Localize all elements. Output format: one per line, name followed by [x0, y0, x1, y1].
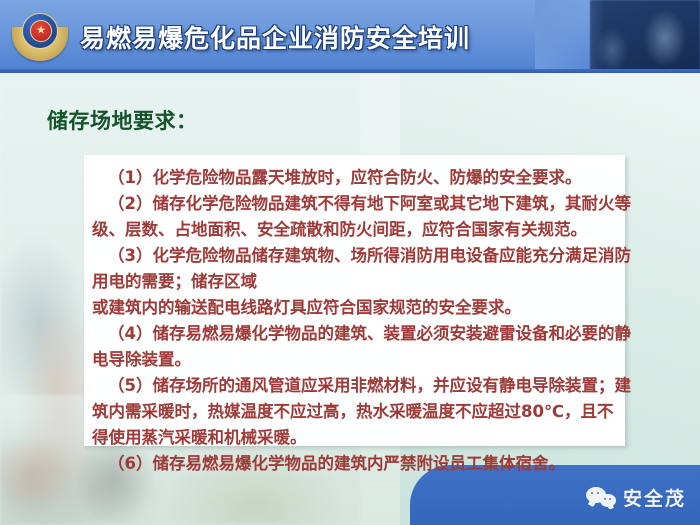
watermark: 安全茂: [586, 484, 686, 511]
slide-heading: 储存场地要求：: [47, 105, 198, 135]
badge-disc: ★: [22, 13, 58, 49]
content-line: 筑内需采暖时，热媒温度不应过高，热水采暖温度不应超过80℃，且不: [92, 399, 617, 425]
wechat-bubble-small: [600, 494, 616, 507]
content-line: 得使用蒸汽采暖和机械采暖。: [92, 425, 617, 451]
content-box: （1）化学危险物品露天堆放时，应符合防火、防爆的安全要求。（2）储存化学危险物品…: [84, 155, 625, 446]
watermark-label: 安全茂: [623, 484, 686, 511]
content-line: （5）储存场所的通风管道应采用非燃材料，并应设有静电导除装置；建: [92, 373, 617, 399]
content-line: （4）储存易燃易爆化学物品的建筑、装置必须安装避雷设备和必要的静: [92, 321, 617, 347]
wechat-dot: [604, 498, 606, 500]
content-line: 或建筑内的输送配电线路灯具应符合国家规范的安全要求。: [92, 295, 617, 321]
content-line: （6）储存易燃易爆化学物品的建筑内严禁附设员工集体宿舍。: [92, 451, 617, 477]
content-line: （1）化学危险物品露天堆放时，应符合防火、防爆的安全要求。: [92, 165, 617, 191]
badge-star-icon: ★: [36, 24, 46, 35]
content-line: 级、层数、占地面积、安全疏散和防火间距，应符合国家有关规范。: [92, 217, 617, 243]
china-police-badge-icon: ★: [12, 11, 68, 63]
content-line: （2）储存化学危险物品建筑不得有地下阿室或其它地下建筑，其耐火等: [92, 191, 617, 217]
badge-inner-emblem: ★: [30, 20, 52, 42]
content-line: （3）化学危险物品储存建筑物、场所得消防用电设备应能充分满足消防: [92, 243, 617, 269]
presentation-slide: ★ 易燃易爆危化品企业消防安全培训 储存场地要求： （1）化学危险物品露天堆放时…: [0, 0, 700, 525]
wechat-icon: [586, 487, 616, 509]
content-lines: （1）化学危险物品露天堆放时，应符合防火、防爆的安全要求。（2）储存化学危险物品…: [92, 165, 617, 477]
header-title: 易燃易爆危化品企业消防安全培训: [80, 19, 470, 55]
header-underline: [0, 69, 700, 73]
header-firefighting-photo: [590, 0, 700, 73]
header-photo-fade: [535, 0, 605, 73]
content-line: 用电的需要；储存区域: [92, 269, 617, 295]
content-line: 电导除装置。: [92, 347, 617, 373]
slide-header: ★ 易燃易爆危化品企业消防安全培训: [0, 0, 700, 73]
